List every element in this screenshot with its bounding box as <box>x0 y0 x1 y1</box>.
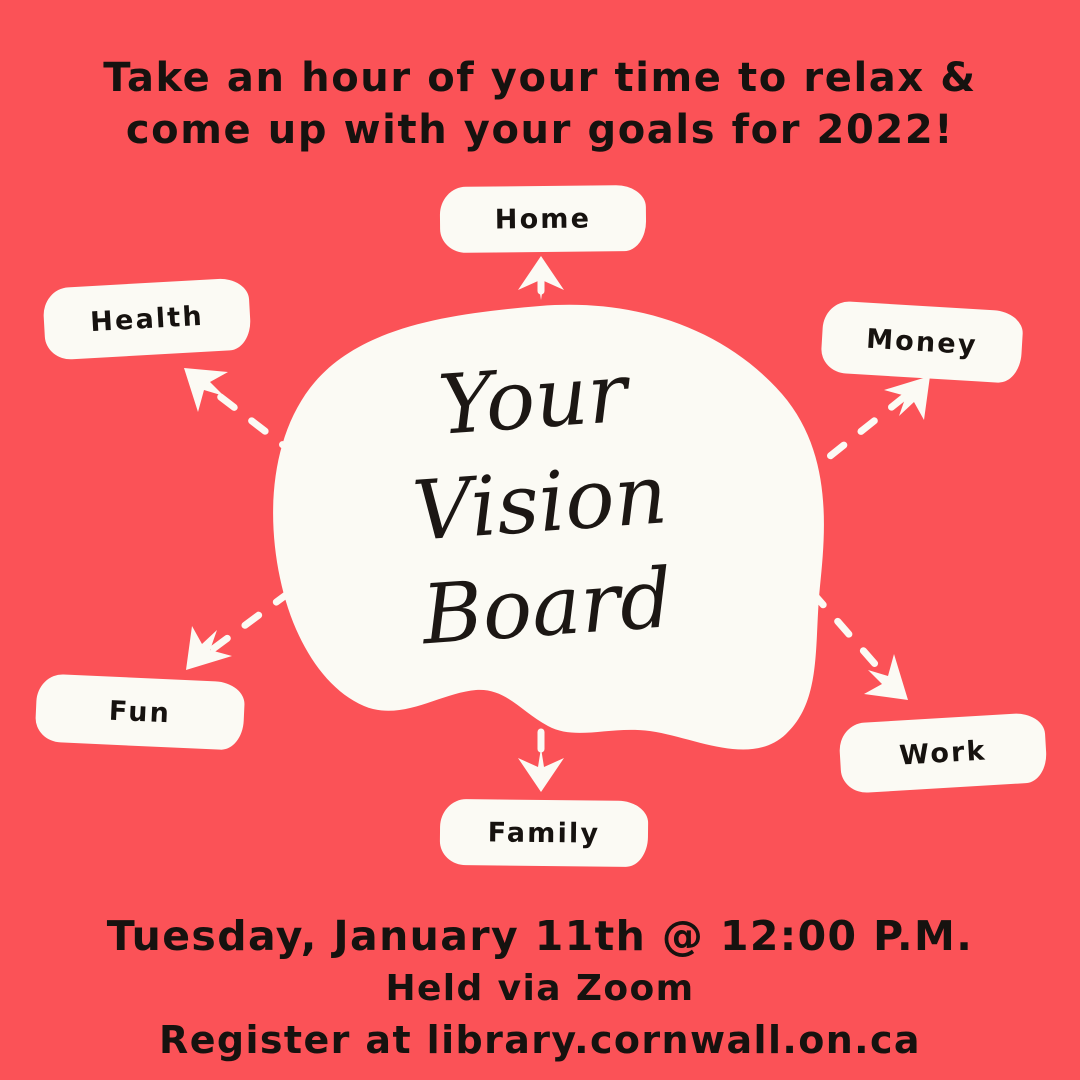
branch-label-home-text: Home <box>495 203 592 235</box>
branch-label-work: Work <box>838 712 1048 794</box>
arrowhead-home-icon <box>518 256 564 300</box>
poster-footer: Tuesday, January 11th @ 12:00 P.M. Held … <box>0 908 1080 1066</box>
headline-line-2: come up with your goals for 2022! <box>0 104 1080 156</box>
event-registration: Register at library.cornwall.on.ca <box>0 1014 1080 1066</box>
connector-money <box>800 386 918 480</box>
event-datetime: Tuesday, January 11th @ 12:00 P.M. <box>0 908 1080 964</box>
connector-work <box>812 592 896 688</box>
branch-label-home: Home <box>440 185 647 253</box>
arrowhead-money-icon <box>884 376 930 420</box>
branch-label-work-text: Work <box>898 735 987 771</box>
poster-headline: Take an hour of your time to relax & com… <box>0 52 1080 156</box>
arrowhead-family-icon <box>518 748 564 792</box>
branch-label-health-text: Health <box>89 300 204 337</box>
branch-label-fun: Fun <box>35 673 246 750</box>
branch-label-health: Health <box>42 277 252 360</box>
vision-board-poster: Take an hour of your time to relax & com… <box>0 0 1080 1080</box>
center-title: Your Vision Board <box>320 334 761 675</box>
branch-label-money-text: Money <box>865 323 978 361</box>
branch-label-money: Money <box>820 300 1024 384</box>
branch-label-family: Family <box>440 799 649 867</box>
arrowhead-fun-icon <box>186 626 232 670</box>
arrowhead-health-icon <box>184 368 228 412</box>
arrowhead-work-icon <box>864 654 908 700</box>
branch-label-family-text: Family <box>488 817 601 849</box>
connector-fun <box>198 592 290 660</box>
connector-health <box>196 378 296 455</box>
headline-line-1: Take an hour of your time to relax & <box>0 52 1080 104</box>
event-platform: Held via Zoom <box>0 964 1080 1014</box>
branch-label-fun-text: Fun <box>108 695 171 729</box>
